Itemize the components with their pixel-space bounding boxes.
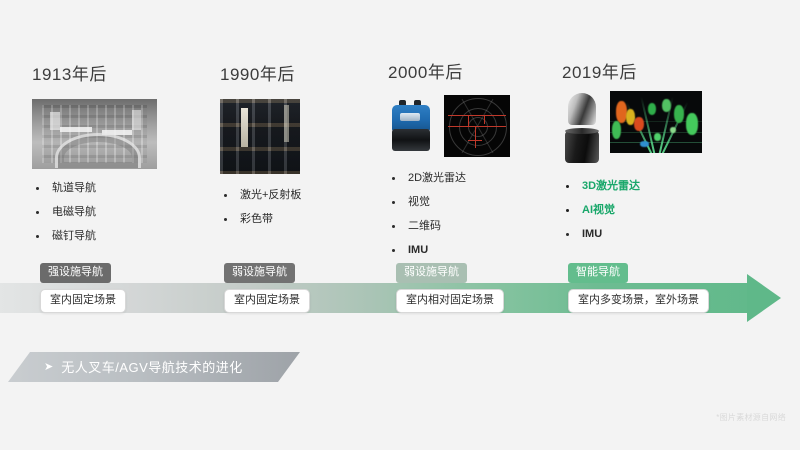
timeline-stage-2: 弱设施导航 室内固定场景 bbox=[224, 262, 310, 313]
3d-point-cloud-scene bbox=[610, 91, 702, 153]
column-2000: 2000年后 2D激光雷达 bbox=[388, 58, 558, 269]
stage-scenario-chip: 室内相对固定场景 bbox=[396, 289, 504, 313]
bottom-banner: ➤ 无人叉车/AGV导航技术的进化 bbox=[8, 352, 300, 382]
column-title: 1913年后 bbox=[32, 60, 202, 85]
column-images bbox=[32, 99, 202, 169]
bullet-item: 视觉 bbox=[388, 197, 558, 208]
3d-lidar-device-photo bbox=[562, 91, 602, 165]
bullet-list: 2D激光雷达 视觉 二维码 IMU bbox=[388, 173, 558, 256]
bullet-item: 二维码 bbox=[388, 221, 558, 232]
bullet-item: 激光+反射板 bbox=[220, 190, 390, 201]
bullet-item: 彩色带 bbox=[220, 214, 390, 225]
timeline-stage-1: 强设施导航 室内固定场景 bbox=[40, 262, 126, 313]
bullet-item: 磁钉导航 bbox=[32, 231, 202, 242]
factory-assembly-line-photo bbox=[32, 99, 157, 169]
2d-lidar-scan-screen bbox=[444, 95, 510, 157]
bullet-item: 电磁导航 bbox=[32, 207, 202, 218]
stage-scenario-chip: 室内多变场景，室外场景 bbox=[568, 289, 709, 313]
bullet-item: 轨道导航 bbox=[32, 183, 202, 194]
stage-tag: 弱设施导航 bbox=[396, 263, 467, 283]
column-title: 2019年后 bbox=[562, 58, 732, 83]
play-arrow-icon: ➤ bbox=[44, 362, 53, 373]
warehouse-racking-photo bbox=[220, 99, 300, 174]
banner-title: 无人叉车/AGV导航技术的进化 bbox=[61, 361, 243, 374]
stage-scenario-chip: 室内固定场景 bbox=[224, 289, 310, 313]
column-title: 1990年后 bbox=[220, 60, 390, 85]
column-title: 2000年后 bbox=[388, 58, 558, 83]
slide-canvas: 1913年后 轨道导航 电磁导航 磁钉导航 1990年后 激光+反射板 彩色带 … bbox=[0, 0, 800, 450]
stage-tag: 弱设施导航 bbox=[224, 263, 295, 283]
stage-tag: 智能导航 bbox=[568, 263, 628, 283]
timeline-stage-4: 智能导航 室内多变场景，室外场景 bbox=[568, 262, 709, 313]
bullet-list: 3D激光雷达 AI视觉 IMU bbox=[562, 181, 732, 240]
column-images bbox=[388, 95, 558, 157]
timeline-arrow-head bbox=[747, 274, 781, 322]
stage-tag: 强设施导航 bbox=[40, 263, 111, 283]
column-images bbox=[220, 99, 390, 174]
timeline-stage-3: 弱设施导航 室内相对固定场景 bbox=[396, 262, 504, 313]
bullet-item: IMU bbox=[388, 245, 558, 256]
bullet-item: AI视觉 bbox=[562, 205, 732, 216]
bullet-item: IMU bbox=[562, 229, 732, 240]
stage-scenario-chip: 室内固定场景 bbox=[40, 289, 126, 313]
bullet-list: 激光+反射板 彩色带 bbox=[220, 190, 390, 225]
column-1990: 1990年后 激光+反射板 彩色带 bbox=[220, 60, 390, 238]
column-2019: 2019年后 bbox=[562, 58, 732, 253]
footnote-text: *图片素材源自网络 bbox=[716, 412, 786, 423]
column-images bbox=[562, 91, 732, 165]
bullet-item: 2D激光雷达 bbox=[388, 173, 558, 184]
bullet-item: 3D激光雷达 bbox=[562, 181, 732, 192]
column-1913: 1913年后 轨道导航 电磁导航 磁钉导航 bbox=[32, 60, 202, 255]
bullet-list: 轨道导航 电磁导航 磁钉导航 bbox=[32, 183, 202, 242]
2d-lidar-device-photo bbox=[388, 95, 434, 157]
